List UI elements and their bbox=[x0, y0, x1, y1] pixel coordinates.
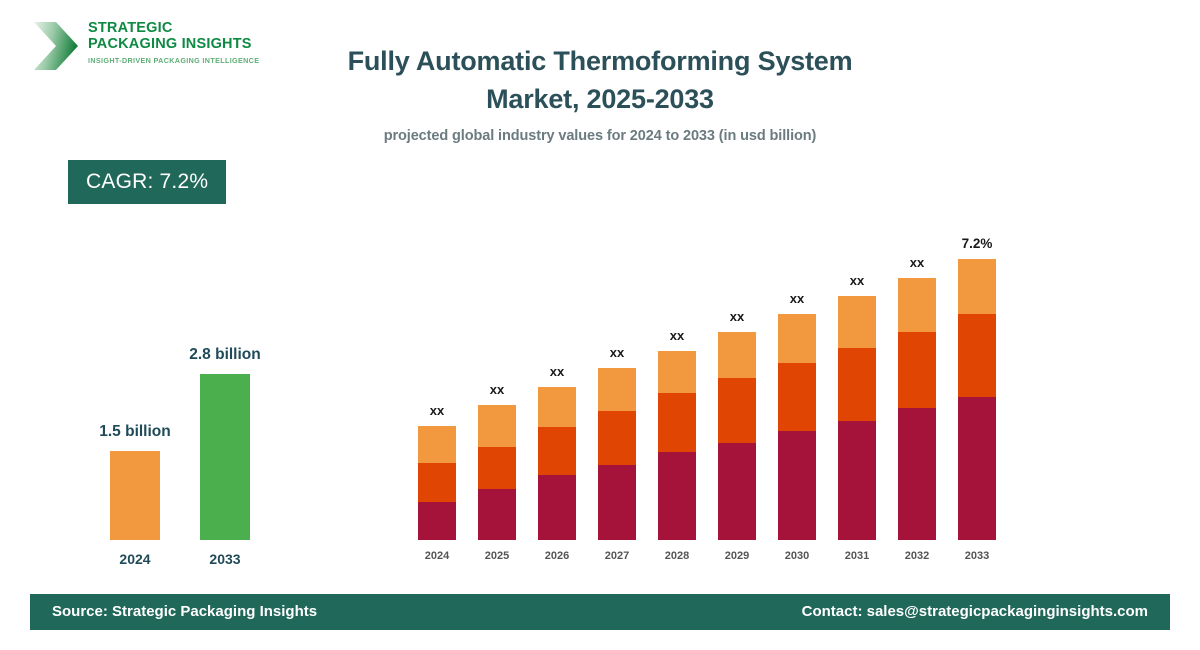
stacked-x-label: 2030 bbox=[778, 550, 816, 562]
stacked-bar-segment bbox=[418, 502, 456, 540]
stacked-bar-segment bbox=[418, 426, 456, 463]
stacked-x-label: 2024 bbox=[418, 550, 456, 562]
stacked-bar-segment bbox=[598, 465, 636, 540]
stacked-bar-segment bbox=[898, 332, 936, 408]
stacked-bar-value-label: xx bbox=[478, 382, 516, 397]
stacked-bar-value-label: xx bbox=[778, 291, 816, 306]
comparison-x-label: 2024 bbox=[95, 551, 175, 567]
chevron-arrow-icon bbox=[30, 18, 82, 74]
comparison-bar bbox=[110, 451, 160, 540]
stacked-x-label: 2032 bbox=[898, 550, 936, 562]
stacked-bar-value-label: xx bbox=[898, 255, 936, 270]
stacked-bar-chart: xx2024xx2025xx2026xx2027xx2028xx2029xx20… bbox=[400, 195, 1040, 565]
stacked-bar-value-label: xx bbox=[658, 328, 696, 343]
stacked-x-label: 2031 bbox=[838, 550, 876, 562]
stacked-bar-value-label: xx bbox=[598, 345, 636, 360]
brand-name: STRATEGIC PACKAGING INSIGHTS INSIGHT-DRI… bbox=[88, 20, 258, 65]
stacked-bar-segment bbox=[478, 447, 516, 489]
cagr-annotation-label: 7.2% bbox=[947, 236, 1007, 251]
page-subtitle: projected global industry values for 202… bbox=[300, 128, 900, 144]
stacked-bar-segment bbox=[958, 314, 996, 397]
footer-source-text: Source: Strategic Packaging Insights bbox=[52, 603, 317, 620]
stacked-bar-value-label: xx bbox=[718, 309, 756, 324]
stacked-bar-value-label: xx bbox=[418, 403, 456, 418]
stacked-bar-segment bbox=[838, 348, 876, 421]
stacked-bar bbox=[598, 368, 636, 540]
stacked-bar-segment bbox=[538, 475, 576, 540]
comparison-bar bbox=[200, 374, 250, 540]
stacked-bar-segment bbox=[478, 489, 516, 540]
stacked-x-label: 2028 bbox=[658, 550, 696, 562]
stacked-bar-segment bbox=[778, 314, 816, 363]
chart-infographic: STRATEGIC PACKAGING INSIGHTS INSIGHT-DRI… bbox=[0, 0, 1200, 650]
brand-name-line2: PACKAGING INSIGHTS bbox=[88, 36, 258, 52]
stacked-x-label: 2026 bbox=[538, 550, 576, 562]
stacked-bar-segment bbox=[598, 368, 636, 411]
stacked-bar-value-label: xx bbox=[538, 364, 576, 379]
stacked-bar-segment bbox=[958, 397, 996, 540]
stacked-bar bbox=[478, 405, 516, 540]
stacked-bar bbox=[418, 426, 456, 540]
stacked-bar-segment bbox=[418, 463, 456, 502]
stacked-bar bbox=[838, 296, 876, 540]
stacked-x-label: 2025 bbox=[478, 550, 516, 562]
brand-name-line1: STRATEGIC bbox=[88, 20, 258, 36]
stacked-bar bbox=[718, 332, 756, 540]
stacked-bar-segment bbox=[898, 278, 936, 332]
stacked-bar-segment bbox=[778, 363, 816, 431]
stacked-bar-segment bbox=[658, 393, 696, 452]
stacked-bar-segment bbox=[538, 387, 576, 427]
stacked-bar-segment bbox=[838, 421, 876, 540]
brand-logo: STRATEGIC PACKAGING INSIGHTS INSIGHT-DRI… bbox=[30, 16, 260, 78]
comparison-value-label: 2.8 billion bbox=[175, 346, 275, 364]
stacked-x-label: 2029 bbox=[718, 550, 756, 562]
stacked-bar bbox=[898, 278, 936, 540]
page-title: Fully Automatic Thermoforming System Mar… bbox=[300, 42, 900, 118]
stacked-bar-value-label: xx bbox=[838, 273, 876, 288]
stacked-bar-segment bbox=[538, 427, 576, 475]
stacked-bar-segment bbox=[838, 296, 876, 348]
stacked-bar bbox=[658, 351, 696, 540]
comparison-value-label: 1.5 billion bbox=[85, 423, 185, 441]
comparison-x-label: 2033 bbox=[185, 551, 265, 567]
footer-contact-text: Contact: sales@strategicpackaginginsight… bbox=[802, 603, 1148, 620]
stacked-bar-segment bbox=[478, 405, 516, 447]
title-block: Fully Automatic Thermoforming System Mar… bbox=[300, 42, 900, 144]
stacked-bar-segment bbox=[718, 443, 756, 540]
stacked-bar bbox=[778, 314, 816, 540]
brand-tagline: INSIGHT-DRIVEN PACKAGING INTELLIGENCE bbox=[88, 56, 258, 65]
cagr-badge: CAGR: 7.2% bbox=[68, 160, 226, 204]
stacked-bar-segment bbox=[718, 378, 756, 443]
stacked-x-label: 2033 bbox=[958, 550, 996, 562]
stacked-bar-segment bbox=[658, 452, 696, 540]
comparison-chart: 1.5 billion20242.8 billion2033 bbox=[40, 300, 300, 575]
stacked-x-label: 2027 bbox=[598, 550, 636, 562]
stacked-bar bbox=[958, 259, 996, 540]
stacked-bar-segment bbox=[778, 431, 816, 540]
stacked-bar-segment bbox=[658, 351, 696, 393]
footer-bar: Source: Strategic Packaging Insights Con… bbox=[30, 594, 1170, 630]
stacked-bar bbox=[538, 387, 576, 540]
stacked-bar-segment bbox=[958, 259, 996, 314]
stacked-bar-segment bbox=[598, 411, 636, 465]
stacked-bar-segment bbox=[898, 408, 936, 540]
stacked-bar-segment bbox=[718, 332, 756, 378]
